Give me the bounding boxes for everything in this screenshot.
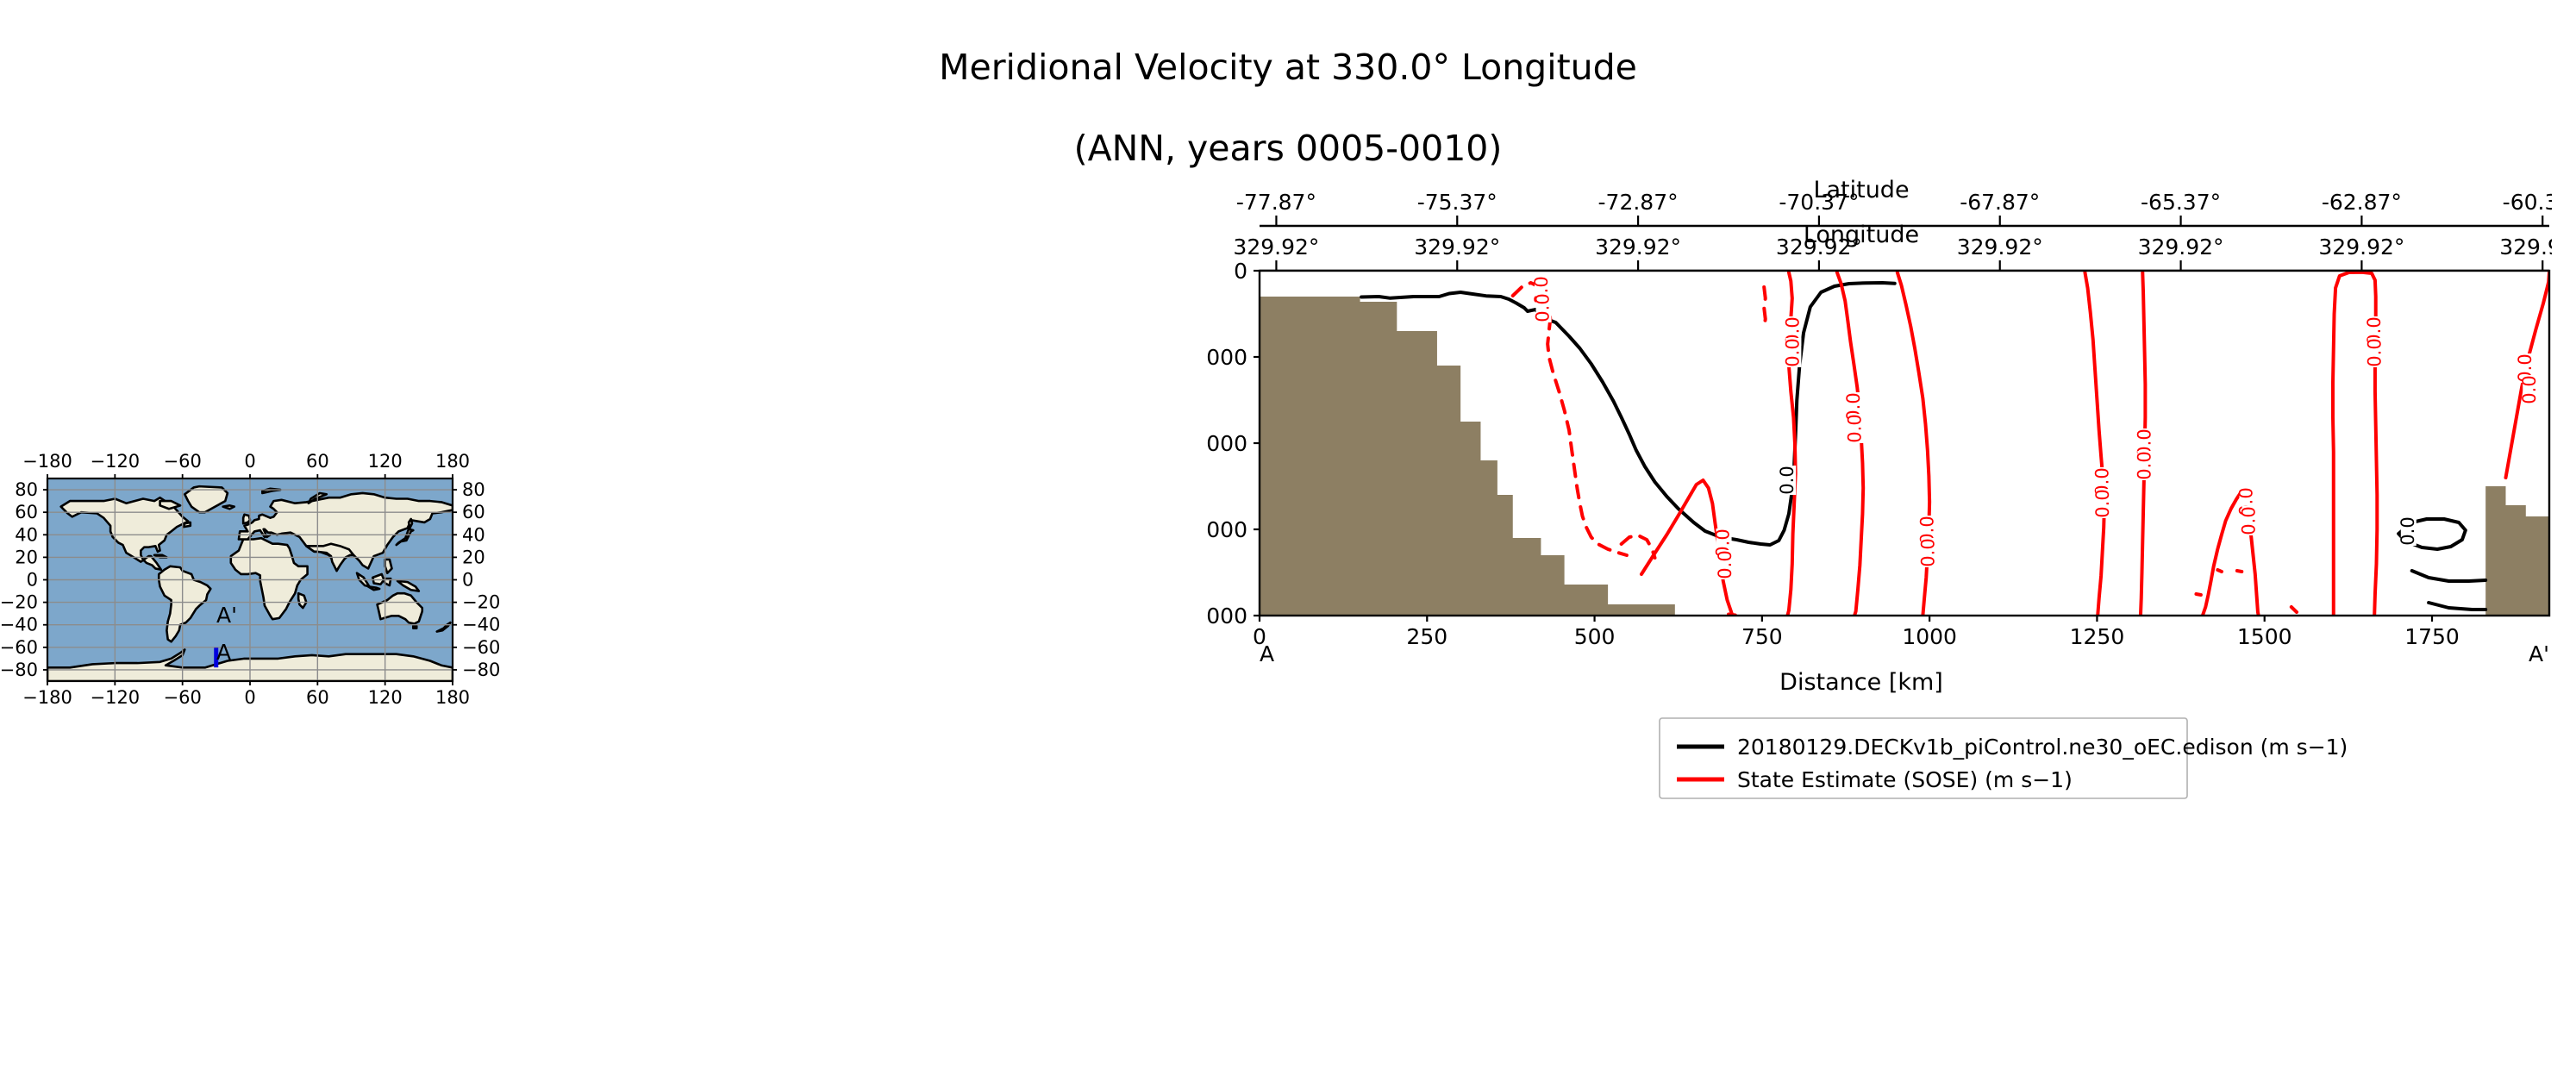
contour-label-text: 0.0 <box>2239 506 2260 535</box>
map-xtick-label-bottom: −60 <box>164 687 202 708</box>
transect-start-label: A <box>216 640 231 665</box>
map-ytick-label-right: −60 <box>462 637 500 658</box>
map-ytick-label-left: −40 <box>0 615 38 635</box>
latitude-tick-label: -72.87° <box>1598 190 1679 215</box>
longitude-tick-label: 329.92° <box>2318 235 2404 260</box>
endpoint-right-label: A' <box>2529 641 2549 666</box>
transect-end-label: A' <box>216 603 237 628</box>
depth-axis: 0−1000−2000−3000−4000 Depth [m] <box>1207 259 1260 629</box>
map-ytick-label-right: −40 <box>462 615 500 635</box>
contour-value-label: 0.0 <box>2239 506 2260 535</box>
map-xtick-label-top: 120 <box>368 451 403 472</box>
map-ytick-label-right: 80 <box>462 479 485 500</box>
map-ytick-label-left: −80 <box>0 660 38 680</box>
distance-tick-label: 1250 <box>2070 624 2125 649</box>
legend-label-sose: State Estimate (SOSE) (m s−1) <box>1737 767 2073 792</box>
contour-value-label: 0.0 <box>1533 293 1554 322</box>
contour-label-text: 0.0 <box>2365 338 2385 366</box>
world-locator-map: −180−120−60060120180 −180−120−6006012018… <box>0 422 931 905</box>
landmass-philippines <box>385 560 392 573</box>
map-xtick-label-top: −180 <box>22 451 72 472</box>
landmass-newfoundland <box>184 522 191 527</box>
map-ytick-label-right: 0 <box>462 570 473 591</box>
cross-section-plot: Latitude -77.87°-75.37°-72.87°-70.37°-67… <box>1207 0 2552 1082</box>
map-yaxis-right-ticks: 806040200−20−40−60−80 <box>453 479 500 680</box>
longitude-tick-label: 329.92° <box>1595 235 1681 260</box>
landmass-uk <box>243 515 250 523</box>
depth-tick-label: −1000 <box>1207 345 1247 370</box>
map-xtick-label-top: 0 <box>244 451 255 472</box>
map-ytick-label-left: −20 <box>0 592 38 613</box>
contour-value-label: 0.0 <box>2398 516 2418 546</box>
contour-value-label: 0.0 <box>2365 338 2385 367</box>
map-ytick-label-left: 0 <box>27 570 38 591</box>
contour-value-label: 0.0 <box>2092 489 2113 518</box>
map-ytick-label-right: 20 <box>462 547 485 567</box>
contour-path-sose <box>1764 287 1766 328</box>
distance-tick-label: 250 <box>1406 624 1447 649</box>
contour-value-label: 0.0 <box>1917 538 1938 567</box>
map-xtick-label-top: −120 <box>90 451 140 472</box>
contour-label-text: 0.0 <box>1782 338 1803 366</box>
longitude-tick-label: 329.92° <box>1776 235 1862 260</box>
contour-label-text: 0.0 <box>1533 293 1554 322</box>
contour-value-label: 0.0 <box>1782 338 1803 367</box>
map-ytick-label-left: 20 <box>15 547 38 567</box>
longitude-tick-label: 329.92° <box>1414 235 1500 260</box>
latitude-tick-label: -77.87° <box>1236 190 1316 215</box>
depth-tick-label: −2000 <box>1207 431 1247 456</box>
map-xtick-label-bottom: 0 <box>244 687 255 708</box>
contour-label-text: 0.0 <box>1845 414 1866 442</box>
map-xaxis-bottom-ticks: −180−120−60060120180 <box>22 681 470 708</box>
depth-tick-label: −3000 <box>1207 517 1247 542</box>
longitude-tick-label: 329.92° <box>2138 235 2224 260</box>
distance-axis: 02505007501000125015001750 Distance [km]… <box>1253 616 2549 696</box>
landmass-tasmania <box>413 626 416 629</box>
distance-tick-label: 1000 <box>1902 624 1957 649</box>
longitude-tick-label: 329.92° <box>2499 235 2552 260</box>
map-xtick-label-top: 60 <box>306 451 329 472</box>
contour-value-label: 0.0 <box>1715 550 1735 579</box>
map-xtick-label-top: −60 <box>164 451 202 472</box>
legend-label-model: 20180129.DECKv1b_piControl.ne30_oEC.edis… <box>1737 735 2348 760</box>
contour-label-text: 0.0 <box>1917 538 1938 566</box>
contour-path-sose <box>2217 570 2222 572</box>
map-xtick-label-bottom: 180 <box>435 687 470 708</box>
contour-label-text: 0.0 <box>2134 451 2154 479</box>
endpoint-left-label: A <box>1260 641 1274 666</box>
map-ytick-label-right: 40 <box>462 524 485 545</box>
map-ytick-label-left: −60 <box>0 637 38 658</box>
map-ytick-label-right: −80 <box>462 660 500 680</box>
latitude-tick-label: -70.37° <box>1779 190 1859 215</box>
map-ytick-label-right: 60 <box>462 502 485 522</box>
contour-label-text: 0.0 <box>1715 550 1735 579</box>
latitude-tick-label: -62.87° <box>2322 190 2402 215</box>
map-xtick-label-bottom: −180 <box>22 687 72 708</box>
longitude-tick-label: 329.92° <box>1233 235 1319 260</box>
latitude-tick-label: -65.37° <box>2141 190 2221 215</box>
contour-label-text: 0.0 <box>2092 489 2113 517</box>
distance-axis-label: Distance [km] <box>1779 669 1943 696</box>
map-ytick-label-right: −20 <box>462 592 500 613</box>
depth-tick-label: 0 <box>1234 259 1247 284</box>
landmass-madagascar <box>298 593 306 608</box>
distance-tick-label: 1500 <box>2237 624 2292 649</box>
distance-tick-label: 1750 <box>2404 624 2460 649</box>
contour-value-label: 0.0 <box>1777 466 1798 495</box>
contour-value-label: 0.0 <box>2519 375 2540 404</box>
contour-path-sose <box>2196 594 2200 595</box>
map-xtick-label-bottom: −120 <box>90 687 140 708</box>
map-ytick-label-left: 40 <box>15 524 38 545</box>
contour-path-sose <box>2237 571 2241 572</box>
landmass-sakhalin <box>409 519 412 528</box>
contour-label-text: 0.0 <box>2519 375 2540 403</box>
map-ytick-label-left: 80 <box>15 479 38 500</box>
latitude-axis: Latitude -77.87°-75.37°-72.87°-70.37°-67… <box>1236 177 2552 226</box>
legend[interactable]: 20180129.DECKv1b_piControl.ne30_oEC.edis… <box>1660 718 2348 798</box>
map-xtick-label-bottom: 120 <box>368 687 403 708</box>
distance-tick-label: 750 <box>1741 624 1783 649</box>
map-xaxis-top-ticks: −180−120−60060120180 <box>22 451 470 478</box>
distance-tick-label: 500 <box>1574 624 1616 649</box>
latitude-tick-label: -67.87° <box>1960 190 2040 215</box>
map-yaxis-left-ticks: 806040200−20−40−60−80 <box>0 479 47 680</box>
contour-value-label: 0.0 <box>2134 451 2154 480</box>
longitude-tick-label: 329.92° <box>1957 235 2043 260</box>
contour-value-label: 0.0 <box>1845 414 1866 443</box>
latitude-tick-label: -60.37° <box>2503 190 2552 215</box>
figure-root: Meridional Velocity at 330.0° Longitude … <box>0 0 2576 1082</box>
latitude-tick-label: -75.37° <box>1417 190 1497 215</box>
contour-label-text: 0.0 <box>2398 516 2418 545</box>
map-xtick-label-top: 180 <box>435 451 470 472</box>
contour-label-text: 0.0 <box>1777 466 1798 494</box>
map-xtick-label-bottom: 60 <box>306 687 329 708</box>
longitude-axis: Longitude 329.92°329.92°329.92°329.92°32… <box>1233 222 2552 271</box>
map-ytick-label-left: 60 <box>15 502 38 522</box>
depth-tick-label: −4000 <box>1207 604 1247 629</box>
